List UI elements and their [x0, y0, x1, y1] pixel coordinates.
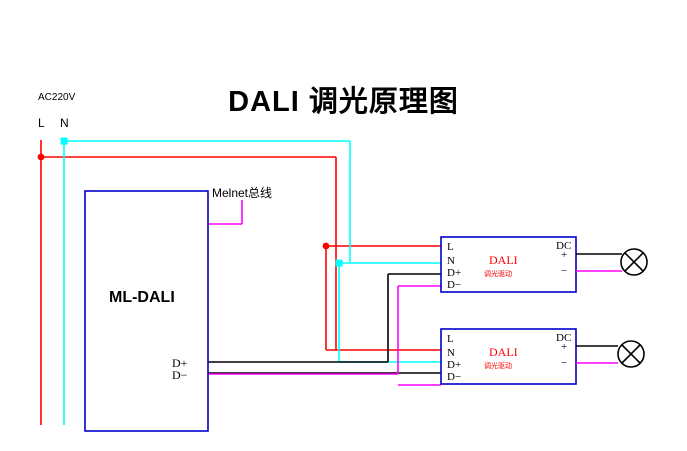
supply-source-label: AC220V: [38, 92, 75, 103]
dali-dplus-wire: [196, 274, 441, 373]
lamp-2: [618, 341, 644, 367]
driver-2-output-minus: −: [561, 357, 567, 369]
controller-output-dminus-label: D−: [172, 368, 187, 383]
driver-1-title: DALI: [489, 253, 518, 268]
driver-1-subtitle: 调光驱动: [484, 269, 512, 279]
driver-2-terminal-dminus: D−: [447, 371, 461, 383]
supply-live-label: L: [38, 116, 45, 130]
driver-1-terminal-l: L: [447, 241, 454, 253]
melnet-bus-wire: [208, 200, 242, 224]
junction-dot-neutral-supply: [61, 138, 68, 145]
driver-1-terminal-dminus: D−: [447, 279, 461, 291]
lamp-1: [621, 249, 647, 275]
driver-1-output-minus: −: [561, 265, 567, 277]
driver-1-terminal-n: N: [447, 255, 455, 267]
driver-2-subtitle: 调光驱动: [484, 361, 512, 371]
driver-2-terminal-l: L: [447, 333, 454, 345]
driver-1-output-wires: [576, 254, 622, 271]
junction-dot-live-supply: [38, 154, 45, 161]
melnet-bus-label: Melnet总线: [212, 184, 272, 201]
dali-wiring-diagram: DALI 调光原理图: [0, 0, 687, 451]
junction-dot-live-branch: [323, 243, 330, 250]
controller-box: [85, 191, 208, 431]
driver-2-terminal-n: N: [447, 347, 455, 359]
driver-2-output-plus: +: [561, 341, 567, 353]
dali-dminus-wire: [196, 286, 441, 385]
junction-dot-neutral-branch: [336, 260, 343, 267]
wiring-canvas: [0, 0, 687, 451]
driver-1-output-plus: +: [561, 249, 567, 261]
driver-2-terminal-dplus: D+: [447, 359, 461, 371]
driver-1-terminal-dplus: D+: [447, 267, 461, 279]
driver-2-output-wires: [576, 346, 618, 363]
controller-name: ML-DALI: [109, 289, 175, 307]
driver-2-title: DALI: [489, 345, 518, 360]
supply-neutral-label: N: [60, 116, 69, 130]
